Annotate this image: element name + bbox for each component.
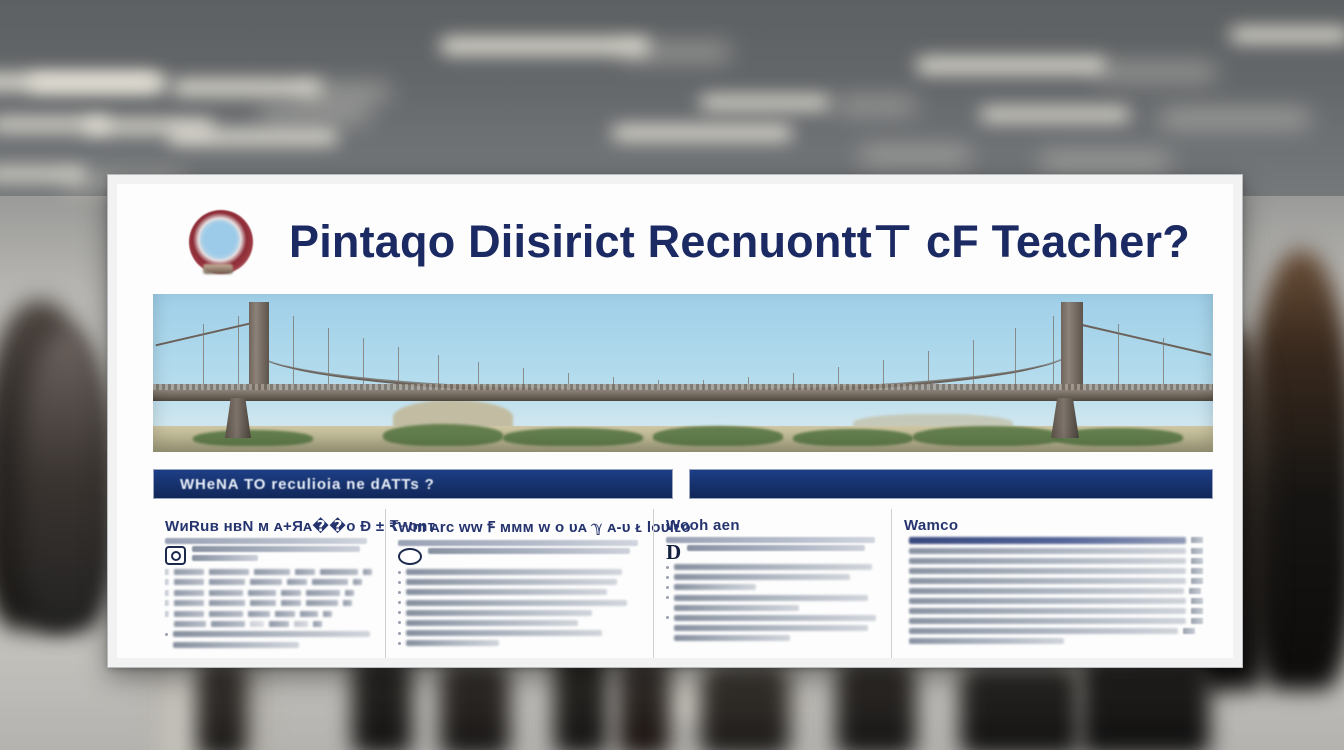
table-row — [904, 638, 1203, 644]
ceiling-light — [28, 76, 168, 90]
ceiling-light — [1096, 66, 1216, 78]
section-banner-left: WHeNA TO reculioia ne dATTs ? — [153, 469, 673, 499]
table-row — [904, 568, 1203, 574]
column-3-intro-line — [666, 537, 875, 543]
column-3-heading: Wooh aen — [666, 517, 881, 534]
column-4-heading: Wamco — [904, 517, 1203, 534]
column-2-icon-row — [398, 548, 643, 565]
ceiling-light — [916, 58, 1106, 73]
letter-d-icon: D — [666, 545, 681, 560]
photo-vignette — [153, 294, 1213, 452]
column-4-rows — [904, 537, 1203, 644]
section-banner-right — [689, 469, 1213, 499]
suspension-bridge-photo — [153, 294, 1213, 452]
column-1-intro-line — [165, 538, 367, 544]
content-column-3: Wooh aen D — [653, 509, 891, 658]
column-2-intro-line — [398, 540, 638, 546]
ceiling-light — [440, 38, 650, 54]
blurred-person — [700, 664, 790, 750]
ceiling-light — [980, 108, 1130, 121]
content-column-4: Wamco — [891, 509, 1213, 658]
content-columns: WиRuв ʜвN ᴍ ᴀ+Яᴀ��ᴏ Ɖ ± ₹⌐onт — [153, 509, 1213, 658]
table-row — [904, 548, 1203, 554]
column-2-bullets — [398, 569, 643, 646]
list-item — [666, 615, 881, 621]
list-item — [398, 600, 643, 606]
list-item — [398, 640, 643, 646]
table-row — [165, 590, 375, 596]
table-row — [165, 621, 375, 627]
blurred-person — [1080, 656, 1210, 750]
section-banner-left-label: WHeNA TO reculioia ne dATTs ? — [154, 476, 435, 493]
column-1-table — [165, 569, 375, 627]
list-item — [398, 630, 643, 636]
gear-icon — [165, 546, 186, 565]
ceiling-light — [612, 126, 792, 140]
list-item — [165, 631, 375, 637]
list-item — [165, 642, 375, 648]
list-item — [666, 574, 881, 580]
ceiling-light — [700, 96, 830, 109]
table-row — [904, 537, 1203, 544]
blurred-person — [618, 656, 670, 750]
table-row — [904, 588, 1203, 594]
blurred-person — [836, 660, 916, 750]
table-row — [165, 579, 375, 585]
list-item — [666, 625, 881, 631]
table-row — [165, 600, 375, 606]
table-row — [904, 558, 1203, 564]
table-row — [904, 618, 1203, 624]
content-column-2: Wm ᴀrᴄ ᴡᴡ Ꞙ ᴍᴍᴍ ᴡ ᴏ ᴜᴀ ℽ ᴀ-ᴜ ᴌ lᴏᴜlᴌᴏ — [385, 509, 653, 658]
list-item — [666, 584, 881, 590]
list-item — [666, 635, 881, 641]
column-1-icon-lines — [192, 546, 375, 564]
logo-base-icon — [203, 264, 233, 274]
list-item — [666, 564, 881, 570]
presentation-poster-panel: Pintaqo Diisirict Recnuontt⊤ ᴄF Teacher? — [108, 175, 1242, 667]
column-2-icon-lines — [428, 548, 643, 557]
list-item — [666, 595, 881, 601]
table-row — [904, 578, 1203, 584]
page-title: Pintaqo Diisirict Recnuontt⊤ ᴄF Teacher? — [289, 206, 1219, 276]
list-item — [398, 610, 643, 616]
ceiling — [0, 0, 1344, 200]
ceiling-light — [1230, 28, 1344, 42]
blurred-person — [22, 330, 112, 630]
table-row — [904, 628, 1203, 634]
column-1-icon-row — [165, 546, 375, 565]
ceiling-light — [1160, 112, 1310, 125]
column-3-icon-row: D — [666, 545, 881, 560]
list-item — [398, 579, 643, 585]
ceiling-light — [300, 86, 390, 98]
list-item — [398, 620, 643, 626]
blurred-person — [352, 655, 412, 750]
table-row — [165, 569, 375, 575]
oval-icon — [398, 548, 422, 565]
list-item — [398, 569, 643, 575]
column-3-bullets — [666, 564, 881, 641]
blurred-person — [440, 662, 510, 750]
blurred-person — [960, 666, 1080, 750]
list-item — [398, 589, 643, 595]
column-1-heading: WиRuв ʜвN ᴍ ᴀ+Яᴀ��ᴏ Ɖ ± ₹⌐onт — [165, 517, 375, 535]
content-column-1: WиRuв ʜвN ᴍ ᴀ+Яᴀ��ᴏ Ɖ ± ₹⌐onт — [153, 509, 385, 658]
column-2-heading: Wm ᴀrᴄ ᴡᴡ Ꞙ ᴍᴍᴍ ᴡ ᴏ ᴜᴀ ℽ ᴀ-ᴜ ᴌ lᴏᴜlᴌᴏ — [398, 517, 643, 537]
table-row — [165, 611, 375, 617]
table-row — [904, 598, 1203, 604]
ceiling-light — [1040, 156, 1170, 168]
list-item — [666, 605, 881, 611]
ceiling-light — [620, 46, 730, 58]
blurred-person — [196, 660, 248, 750]
ceiling-light — [860, 150, 970, 162]
column-3-icon-lines — [687, 545, 881, 554]
ceiling-light — [168, 130, 338, 144]
table-row — [904, 608, 1203, 614]
ceiling-light — [260, 108, 370, 120]
poster-header: Pintaqo Diisirict Recnuontt⊤ ᴄF Teacher? — [117, 184, 1233, 296]
column-1-footnote — [165, 631, 375, 647]
ceiling-light — [836, 100, 916, 111]
